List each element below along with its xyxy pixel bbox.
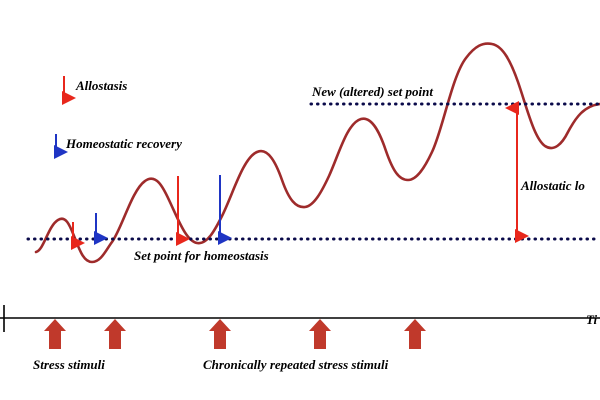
legend-label-allostasis: Allostasis [76, 78, 127, 94]
figure-canvas: Allostasis Homeostatic recovery Set poin… [0, 0, 600, 400]
stress-stimulus-arrow-4-icon [309, 319, 331, 349]
stress-stimulus-arrow-3-icon [209, 319, 231, 349]
stress-stimulus-arrow-1-icon [44, 319, 66, 349]
stress-stimulus-arrow-5-icon [404, 319, 426, 349]
legend-label-homeostatic-recovery: Homeostatic recovery [66, 136, 182, 152]
label-set-point-for-homeostasis: Set point for homeostasis [134, 248, 269, 264]
label-allostatic-load: Allostatic lo [521, 178, 585, 194]
label-time-axis: Ti [586, 312, 597, 328]
allostatic-curve [36, 44, 600, 262]
stress-stimulus-arrow-2-icon [104, 319, 126, 349]
label-new-altered-set-point: New (altered) set point [312, 84, 433, 100]
label-stress-stimuli: Stress stimuli [33, 357, 105, 373]
label-chronically-repeated-stress-stimuli: Chronically repeated stress stimuli [203, 357, 388, 373]
diagram-svg [0, 0, 600, 400]
